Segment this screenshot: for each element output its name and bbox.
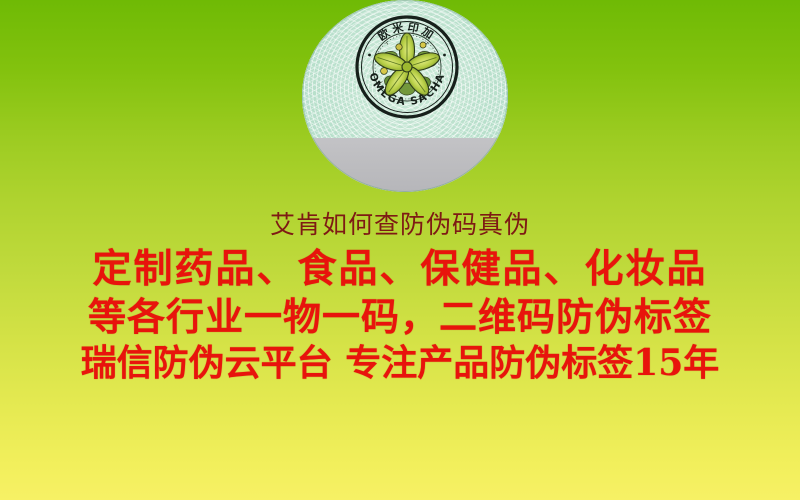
page-title: 艾肯如何查防伪码真伪 <box>0 210 800 240</box>
tagline-line-3: 瑞信防伪云平台 专注产品防伪标签15年 <box>0 340 800 387</box>
anti-counterfeit-sticker[interactable]: 欧米印加 OMEGA SACHA <box>302 0 508 192</box>
tagline-line-2: 等各行业一物一码，二维码防伪标签 <box>0 293 800 340</box>
tagline-block: 定制药品、食品、保健品、化妆品 等各行业一物一码，二维码防伪标签 瑞信防伪云平台… <box>0 246 800 387</box>
tagline-line-1: 定制药品、食品、保健品、化妆品 <box>0 246 800 293</box>
scratch-off-coating[interactable]: 刮涂层 查真伪 <box>302 138 508 192</box>
poster-canvas: 欧米印加 OMEGA SACHA <box>0 0 800 500</box>
brand-emblem-seal: 欧米印加 OMEGA SACHA <box>355 15 459 119</box>
